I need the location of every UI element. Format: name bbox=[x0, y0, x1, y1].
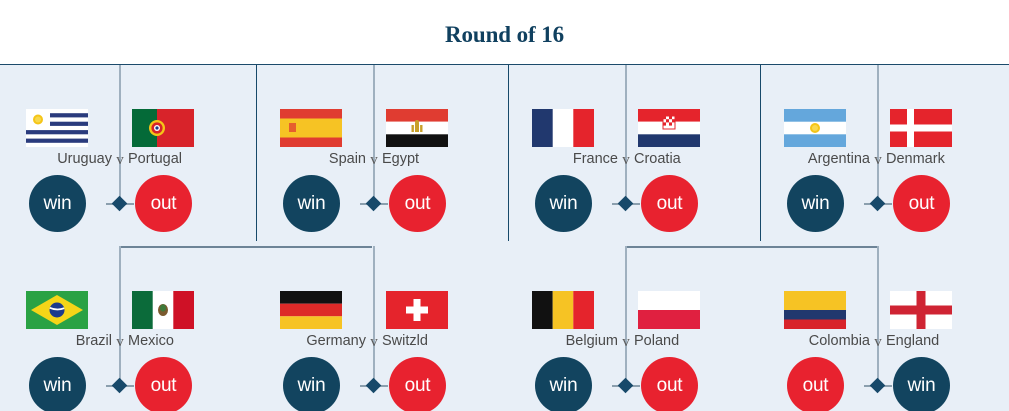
flag-denmark bbox=[890, 109, 952, 147]
bracket-page: Round of 16 Uruguay v Portugal bbox=[0, 0, 1009, 411]
result-badge-right[interactable]: win bbox=[893, 357, 950, 411]
flag-argentina bbox=[784, 109, 846, 147]
match-spain-egypt: Spain v Egypt win out bbox=[262, 103, 486, 233]
bracket-horizontal-1 bbox=[120, 246, 372, 248]
team-name-right[interactable]: Egypt bbox=[382, 149, 486, 169]
match-argentina-denmark: Argentina v Denmark win out bbox=[766, 103, 990, 233]
flag-croatia bbox=[638, 109, 700, 147]
result-badge-right[interactable]: out bbox=[641, 175, 698, 232]
result-badge-left[interactable]: win bbox=[29, 175, 86, 232]
flag-england bbox=[890, 291, 952, 329]
match-results: win out bbox=[262, 175, 486, 233]
result-badge-left[interactable]: win bbox=[29, 357, 86, 411]
flag-spain bbox=[280, 109, 342, 147]
versus-label: v bbox=[112, 149, 128, 171]
versus-label: v bbox=[618, 149, 634, 171]
versus-label: v bbox=[366, 331, 382, 353]
flag-colombia bbox=[784, 291, 846, 329]
match-flags bbox=[766, 285, 990, 331]
match-flags bbox=[514, 285, 738, 331]
result-badge-left[interactable]: win bbox=[283, 175, 340, 232]
quadrant-divider-2 bbox=[508, 65, 509, 241]
bracket-horizontal-3 bbox=[626, 246, 878, 248]
team-name-right[interactable]: Switzld bbox=[382, 331, 486, 351]
match-names: Spain v Egypt bbox=[262, 149, 486, 173]
match-names: Brazil v Mexico bbox=[8, 331, 232, 355]
flag-switzerland bbox=[386, 291, 448, 329]
result-badge-left[interactable]: out bbox=[787, 357, 844, 411]
result-diamond-icon bbox=[112, 378, 128, 394]
match-results: win out bbox=[8, 357, 232, 411]
result-diamond-icon bbox=[366, 378, 382, 394]
team-name-left[interactable]: Spain bbox=[262, 149, 366, 169]
match-results: out win bbox=[766, 357, 990, 411]
bracket-panel: Uruguay v Portugal win out Spain v bbox=[0, 64, 1009, 411]
result-diamond-icon bbox=[112, 196, 128, 212]
match-names: Argentina v Denmark bbox=[766, 149, 990, 173]
match-flags bbox=[262, 285, 486, 331]
match-flags bbox=[514, 103, 738, 149]
match-germany-switzerland: Germany v Switzld win out bbox=[262, 285, 486, 411]
flag-belgium bbox=[532, 291, 594, 329]
result-badge-right[interactable]: out bbox=[135, 175, 192, 232]
match-flags bbox=[766, 103, 990, 149]
team-name-left[interactable]: Argentina bbox=[766, 149, 870, 169]
match-names: Germany v Switzld bbox=[262, 331, 486, 355]
result-badge-right[interactable]: out bbox=[389, 357, 446, 411]
result-diamond-icon bbox=[870, 196, 886, 212]
quadrant-divider-1 bbox=[256, 65, 257, 241]
team-name-right[interactable]: Portugal bbox=[128, 149, 232, 169]
quadrant-divider-3 bbox=[760, 65, 761, 241]
match-flags bbox=[262, 103, 486, 149]
versus-label: v bbox=[366, 149, 382, 171]
match-uruguay-portugal: Uruguay v Portugal win out bbox=[8, 103, 232, 233]
team-name-right[interactable]: Denmark bbox=[886, 149, 990, 169]
versus-label: v bbox=[618, 331, 634, 353]
match-results: win out bbox=[766, 175, 990, 233]
match-colombia-england: Colombia v England out win bbox=[766, 285, 990, 411]
match-names: Belgium v Poland bbox=[514, 331, 738, 355]
flag-mexico bbox=[132, 291, 194, 329]
result-badge-left[interactable]: win bbox=[535, 175, 592, 232]
result-badge-left[interactable]: win bbox=[787, 175, 844, 232]
match-names: Uruguay v Portugal bbox=[8, 149, 232, 173]
match-results: win out bbox=[262, 357, 486, 411]
team-name-right[interactable]: Mexico bbox=[128, 331, 232, 351]
match-belgium-poland: Belgium v Poland win out bbox=[514, 285, 738, 411]
match-results: win out bbox=[514, 357, 738, 411]
team-name-left[interactable]: Uruguay bbox=[8, 149, 112, 169]
team-name-left[interactable]: Belgium bbox=[514, 331, 618, 351]
flag-egypt bbox=[386, 109, 448, 147]
match-flags bbox=[8, 285, 232, 331]
team-name-right[interactable]: Poland bbox=[634, 331, 738, 351]
result-diamond-icon bbox=[618, 196, 634, 212]
match-names: Colombia v England bbox=[766, 331, 990, 355]
flag-uruguay bbox=[26, 109, 88, 147]
flag-poland bbox=[638, 291, 700, 329]
result-diamond-icon bbox=[618, 378, 634, 394]
result-badge-right[interactable]: out bbox=[389, 175, 446, 232]
match-france-croatia: France v Croatia win out bbox=[514, 103, 738, 233]
flag-brazil bbox=[26, 291, 88, 329]
team-name-left[interactable]: France bbox=[514, 149, 618, 169]
versus-label: v bbox=[112, 331, 128, 353]
match-results: win out bbox=[8, 175, 232, 233]
result-badge-right[interactable]: out bbox=[135, 357, 192, 411]
result-diamond-icon bbox=[366, 196, 382, 212]
result-badge-right[interactable]: out bbox=[641, 357, 698, 411]
page-title: Round of 16 bbox=[0, 22, 1009, 48]
flag-portugal bbox=[132, 109, 194, 147]
match-names: France v Croatia bbox=[514, 149, 738, 173]
versus-label: v bbox=[870, 331, 886, 353]
team-name-right[interactable]: England bbox=[886, 331, 990, 351]
team-name-left[interactable]: Germany bbox=[262, 331, 366, 351]
team-name-left[interactable]: Colombia bbox=[766, 331, 870, 351]
match-flags bbox=[8, 103, 232, 149]
team-name-left[interactable]: Brazil bbox=[8, 331, 112, 351]
versus-label: v bbox=[870, 149, 886, 171]
flag-france bbox=[532, 109, 594, 147]
result-diamond-icon bbox=[870, 378, 886, 394]
match-results: win out bbox=[514, 175, 738, 233]
team-name-right[interactable]: Croatia bbox=[634, 149, 738, 169]
result-badge-left[interactable]: win bbox=[535, 357, 592, 411]
result-badge-right[interactable]: out bbox=[893, 175, 950, 232]
result-badge-left[interactable]: win bbox=[283, 357, 340, 411]
flag-germany bbox=[280, 291, 342, 329]
match-brazil-mexico: Brazil v Mexico win out bbox=[8, 285, 232, 411]
